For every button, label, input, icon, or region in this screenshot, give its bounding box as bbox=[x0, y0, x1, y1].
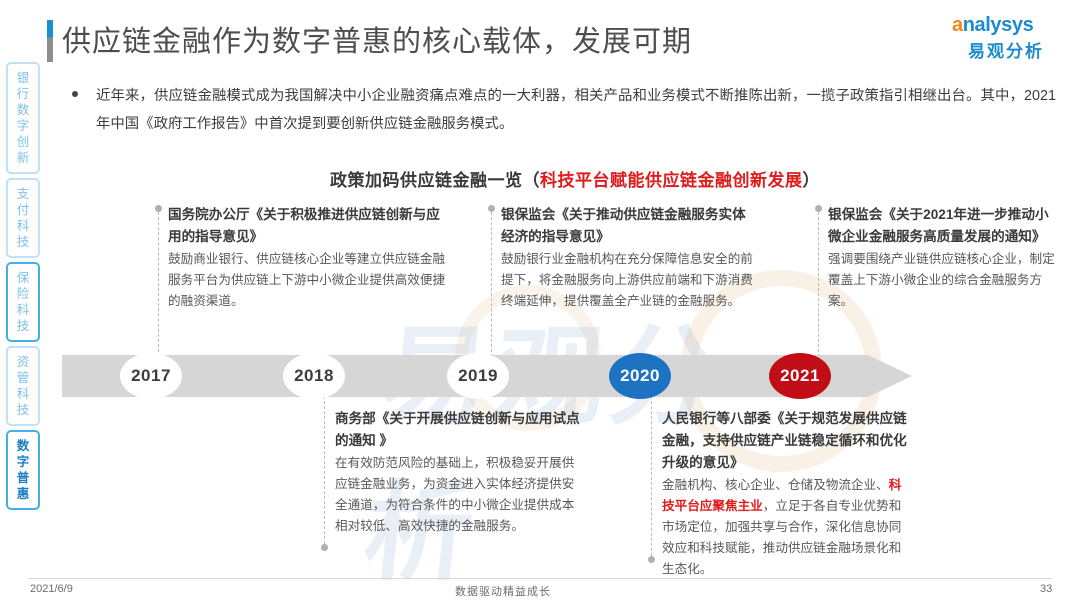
policy-card-2019: 银保监会《关于推动供应链金融服务实体经济的指导意见》 鼓励银行业金融机构在充分保… bbox=[501, 204, 756, 312]
sidebar-item-char: 科 bbox=[8, 386, 38, 402]
sidebar-item-char: 支 bbox=[8, 186, 38, 202]
timeline-node-2020[interactable]: 2020 bbox=[609, 353, 671, 399]
policy-card-2020-body-pre: 金融机构、核心企业、仓储及物流企业、 bbox=[662, 478, 889, 492]
sidebar-item-char: 数 bbox=[8, 102, 38, 118]
bullet-marker-icon bbox=[72, 91, 78, 97]
footer-page-number: 33 bbox=[1040, 583, 1052, 595]
policy-card-2020-title: 人民银行等八部委《关于规范发展供应链金融，支持供应链产业链稳定循环和优化升级的意… bbox=[662, 408, 912, 474]
sidebar-item-char: 管 bbox=[8, 370, 38, 386]
policy-card-2020: 人民银行等八部委《关于规范发展供应链金融，支持供应链产业链稳定循环和优化升级的意… bbox=[662, 408, 912, 580]
sidebar-item-asset-management-tech[interactable]: 资管科技 bbox=[6, 346, 40, 426]
sidebar-item-char: 付 bbox=[8, 202, 38, 218]
connector-dot-2020 bbox=[648, 556, 655, 563]
policy-card-2021-body: 强调要围绕产业链供应链核心企业，制定覆盖上下游小微企业的综合金融服务方案。 bbox=[828, 249, 1056, 312]
connector-line-2017 bbox=[158, 212, 159, 357]
sidebar-item-char: 数 bbox=[8, 438, 38, 454]
connector-dot-2018 bbox=[321, 544, 328, 551]
section-subtitle-tail: ） bbox=[803, 171, 821, 190]
timeline-node-2018[interactable]: 2018 bbox=[283, 353, 345, 399]
sidebar-item-char: 行 bbox=[8, 86, 38, 102]
logo-wordmark-rest: nalysys bbox=[963, 14, 1034, 36]
sidebar-item-char: 普 bbox=[8, 470, 38, 486]
sidebar-item-char: 科 bbox=[8, 218, 38, 234]
sidebar-item-char: 险 bbox=[8, 286, 38, 302]
sidebar-item-char: 技 bbox=[8, 402, 38, 418]
connector-dot-2021 bbox=[815, 205, 822, 212]
section-subtitle-main: 政策加码供应链金融一览（ bbox=[330, 171, 540, 190]
sidebar-item-char: 惠 bbox=[8, 486, 38, 502]
logo-chinese-name: 易观分析 bbox=[968, 37, 1044, 62]
sidebar-item-char: 字 bbox=[8, 118, 38, 134]
timeline-node-2017[interactable]: 2017 bbox=[120, 353, 182, 399]
intro-paragraph: 近年来，供应链金融模式成为我国解决中小企业融资痛点难点的一大利器，相关产品和业务… bbox=[96, 82, 1056, 138]
policy-card-2017-title: 国务院办公厅《关于积极推进供应链创新与应用的指导意见》 bbox=[168, 204, 448, 248]
sidebar-item-digital-inclusive-finance[interactable]: 数字普惠 bbox=[6, 430, 40, 510]
analysys-logo: analysys 易观分析 bbox=[952, 14, 1064, 60]
policy-card-2019-body: 鼓励银行业金融机构在充分保障信息安全的前提下，将金融服务向上游供应前端和下游消费… bbox=[501, 249, 756, 312]
section-subtitle: 政策加码供应链金融一览（科技平台赋能供应链金融创新发展） bbox=[330, 166, 820, 191]
connector-line-2021 bbox=[818, 212, 819, 357]
connector-line-2019 bbox=[491, 212, 492, 357]
sidebar-item-char: 银 bbox=[8, 70, 38, 86]
sidebar-item-char: 保 bbox=[8, 270, 38, 286]
sidebar-item-char: 科 bbox=[8, 302, 38, 318]
footer-slogan: 数据驱动精益成长 bbox=[455, 583, 551, 599]
title-accent-bar bbox=[47, 20, 53, 62]
policy-card-2017-body: 鼓励商业银行、供应链核心企业等建立供应链金融服务平台为供应链上下游中小微企业提供… bbox=[168, 249, 448, 312]
policy-card-2018: 商务部《关于开展供应链创新与应用试点的通知 》 在有效防范风险的基础上，积极稳妥… bbox=[335, 408, 585, 537]
policy-card-2020-body: 金融机构、核心企业、仓储及物流企业、科技平台应聚焦主业，立足于各自专业优势和市场… bbox=[662, 475, 912, 580]
sidebar-item-insurance-tech[interactable]: 保险科技 bbox=[6, 262, 40, 342]
section-subtitle-highlight: 科技平台赋能供应链金融创新发展 bbox=[540, 171, 803, 190]
connector-dot-2017 bbox=[155, 205, 162, 212]
footer-date: 2021/6/9 bbox=[30, 583, 73, 595]
policy-card-2017: 国务院办公厅《关于积极推进供应链创新与应用的指导意见》 鼓励商业银行、供应链核心… bbox=[168, 204, 448, 312]
sidebar-item-char: 新 bbox=[8, 150, 38, 166]
policy-card-2018-title: 商务部《关于开展供应链创新与应用试点的通知 》 bbox=[335, 408, 585, 452]
connector-dot-2019 bbox=[488, 205, 495, 212]
timeline-node-2019[interactable]: 2019 bbox=[447, 353, 509, 399]
policy-card-2021-title: 银保监会《关于2021年进一步推动小微企业金融服务高质量发展的通知》 bbox=[828, 204, 1056, 248]
timeline-node-2021[interactable]: 2021 bbox=[769, 353, 831, 399]
policy-card-2021: 银保监会《关于2021年进一步推动小微企业金融服务高质量发展的通知》 强调要围绕… bbox=[828, 204, 1056, 312]
sidebar-item-char: 技 bbox=[8, 234, 38, 250]
connector-line-2020 bbox=[651, 396, 652, 556]
logo-initial: a bbox=[952, 14, 963, 36]
policy-card-2019-title: 银保监会《关于推动供应链金融服务实体经济的指导意见》 bbox=[501, 204, 756, 248]
logo-wordmark: analysys bbox=[952, 14, 1033, 37]
sidebar-item-char: 资 bbox=[8, 354, 38, 370]
sidebar-nav: 银行数字创新 支付科技 保险科技 资管科技 数字普惠 bbox=[6, 62, 40, 514]
connector-line-2018 bbox=[324, 396, 325, 544]
sidebar-item-char: 创 bbox=[8, 134, 38, 150]
page-title: 供应链金融作为数字普惠的核心载体，发展可期 bbox=[62, 18, 692, 60]
sidebar-item-payment-tech[interactable]: 支付科技 bbox=[6, 178, 40, 258]
sidebar-item-bank-digital-innovation[interactable]: 银行数字创新 bbox=[6, 62, 40, 174]
slide-canvas: 易观分析 供应链金融作为数字普惠的核心载体，发展可期 analysys 易观分析… bbox=[0, 0, 1080, 608]
sidebar-item-char: 技 bbox=[8, 318, 38, 334]
policy-card-2018-body: 在有效防范风险的基础上，积极稳妥开展供应链金融业务，为资金进入实体经济提供安全通… bbox=[335, 453, 585, 537]
sidebar-item-char: 字 bbox=[8, 454, 38, 470]
footer-divider bbox=[28, 578, 1052, 579]
